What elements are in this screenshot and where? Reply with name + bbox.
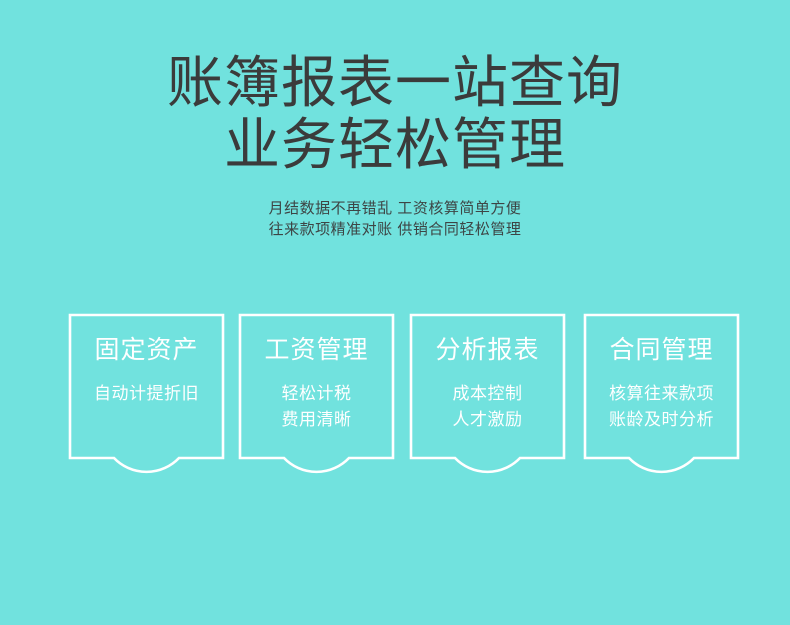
subhead-line-1: 月结数据不再错乱 工资核算简单方便 (0, 198, 790, 219)
feature-card-fixed-assets[interactable]: 固定资产 自动计提折旧 (68, 313, 225, 459)
card-title: 合同管理 (609, 335, 713, 365)
headline-line-1: 账簿报表一站查询 (0, 52, 790, 114)
card-content: 合同管理 核算往来款项 账龄及时分析 (583, 313, 740, 459)
card-content: 固定资产 自动计提折旧 (68, 313, 225, 459)
card-content: 工资管理 轻松计税 费用清晰 (238, 313, 395, 459)
feature-card-payroll[interactable]: 工资管理 轻松计税 费用清晰 (238, 313, 395, 459)
feature-card-contract-management[interactable]: 合同管理 核算往来款项 账龄及时分析 (583, 313, 740, 459)
card-description: 轻松计税 费用清晰 (282, 381, 352, 433)
card-description-line-2: 账龄及时分析 (609, 407, 714, 433)
card-description: 成本控制 人才激励 (453, 381, 523, 433)
card-content: 分析报表 成本控制 人才激励 (409, 313, 566, 459)
subhead: 月结数据不再错乱 工资核算简单方便 往来款项精准对账 供销合同轻松管理 (0, 198, 790, 240)
card-title: 分析报表 (435, 335, 539, 365)
card-description-line-1: 轻松计税 (282, 381, 352, 407)
feature-card-row: 固定资产 自动计提折旧 工资管理 轻松计税 费用清晰 (68, 313, 740, 513)
card-description-line-1: 成本控制 (453, 381, 523, 407)
card-title: 工资管理 (264, 335, 368, 365)
headline-line-2: 业务轻松管理 (0, 114, 790, 176)
card-title: 固定资产 (94, 335, 198, 365)
card-description-line-2: 费用清晰 (282, 407, 352, 433)
card-description: 自动计提折旧 (94, 381, 199, 407)
card-description-line-1: 核算往来款项 (609, 381, 714, 407)
promo-banner: 账簿报表一站查询 业务轻松管理 月结数据不再错乱 工资核算简单方便 往来款项精准… (0, 0, 790, 625)
subhead-line-2: 往来款项精准对账 供销合同轻松管理 (0, 219, 790, 240)
card-description-line-1: 自动计提折旧 (94, 381, 199, 407)
card-description: 核算往来款项 账龄及时分析 (609, 381, 714, 433)
card-description-line-2: 人才激励 (453, 407, 523, 433)
feature-card-analysis-report[interactable]: 分析报表 成本控制 人才激励 (409, 313, 566, 459)
header: 账簿报表一站查询 业务轻松管理 月结数据不再错乱 工资核算简单方便 往来款项精准… (0, 52, 790, 240)
